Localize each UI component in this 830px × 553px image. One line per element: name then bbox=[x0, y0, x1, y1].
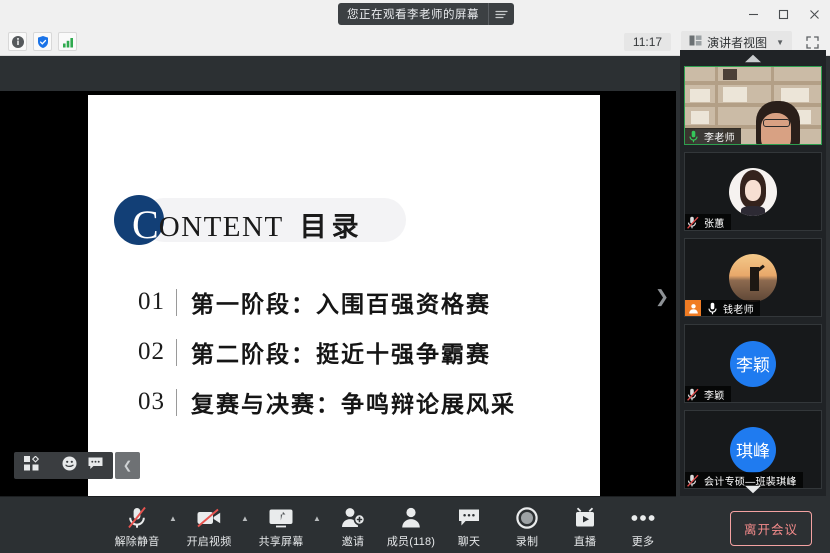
chat-bubble-icon bbox=[458, 506, 480, 530]
maximize-icon[interactable] bbox=[768, 0, 798, 28]
audio-options-caret[interactable]: ▲ bbox=[166, 514, 180, 537]
agenda-text: 复赛与决赛：争鸣辩论展风采 bbox=[191, 385, 516, 419]
speaker-view-icon bbox=[689, 35, 702, 49]
microphone-muted-icon bbox=[126, 506, 148, 530]
participant-name-badge: 李颖 bbox=[685, 386, 731, 402]
info-icon[interactable] bbox=[8, 32, 27, 51]
shield-icon[interactable] bbox=[33, 32, 52, 51]
stage-overlay-controls: ❮ bbox=[14, 452, 140, 479]
screen-share-notice[interactable]: 您正在观看李老师的屏幕 bbox=[338, 3, 514, 25]
stage-top-band bbox=[0, 57, 676, 91]
participant-tile[interactable]: 琪峰 会计专硕—班裴琪峰 bbox=[684, 410, 822, 489]
minimize-icon[interactable] bbox=[738, 0, 768, 28]
triangle-down-icon[interactable] bbox=[680, 482, 826, 496]
leave-meeting-button[interactable]: 离开会议 bbox=[730, 511, 812, 546]
next-slide-arrow[interactable]: ❯ bbox=[652, 282, 672, 312]
meeting-clock: 11:17 bbox=[624, 33, 671, 51]
view-mode-label: 演讲者视图 bbox=[707, 34, 767, 51]
record-circle-icon bbox=[516, 506, 538, 530]
avatar-initials: 李颖 bbox=[736, 351, 770, 376]
chat-bubble-icon[interactable] bbox=[88, 457, 103, 475]
list-item: 01 第一阶段：入围百强资格赛 bbox=[138, 277, 516, 327]
participant-filmstrip[interactable]: 李老师 张蕙 bbox=[680, 50, 826, 496]
signal-bars-icon[interactable] bbox=[58, 32, 77, 51]
screen-share-notice-label: 您正在观看李老师的屏幕 bbox=[347, 6, 488, 22]
live-broadcast-button[interactable]: 直播 bbox=[556, 502, 614, 549]
participant-name: 钱老师 bbox=[723, 301, 754, 316]
microphone-icon bbox=[704, 300, 720, 316]
slide-heading-first-letter: C bbox=[132, 205, 159, 245]
share-options-caret[interactable]: ▲ bbox=[310, 514, 324, 537]
control-label: 解除静音 bbox=[115, 533, 160, 549]
participant-name-badge: 钱老师 bbox=[685, 300, 760, 316]
control-label: 开启视频 bbox=[187, 533, 232, 549]
share-screen-button[interactable]: 共享屏幕 bbox=[252, 502, 310, 549]
control-buttons: 解除静音 ▲ 开启视频 ▲ 共享屏幕 ▲ 邀请 bbox=[0, 502, 672, 549]
title-bar: 您正在观看李老师的屏幕 bbox=[0, 0, 830, 28]
meeting-control-bar: 解除静音 ▲ 开启视频 ▲ 共享屏幕 ▲ 邀请 bbox=[0, 497, 830, 553]
control-label: 邀请 bbox=[342, 533, 364, 549]
participant-name: 张蕙 bbox=[704, 215, 725, 230]
participant-name: 李颖 bbox=[704, 387, 725, 402]
slide-agenda-list: 01 第一阶段：入围百强资格赛 02 第二阶段：挺近十强争霸赛 03 复赛与决赛… bbox=[138, 277, 516, 427]
more-dots-icon bbox=[631, 506, 655, 530]
participant-name-badge: 张蕙 bbox=[685, 214, 731, 230]
chevron-left-icon[interactable]: ❮ bbox=[115, 452, 140, 479]
participants-button[interactable]: 成员(118) bbox=[382, 502, 440, 549]
control-label: 共享屏幕 bbox=[259, 533, 304, 549]
agenda-divider bbox=[176, 289, 177, 316]
participant-name: 李老师 bbox=[704, 129, 735, 144]
record-button[interactable]: 录制 bbox=[498, 502, 556, 549]
list-item: 02 第二阶段：挺近十强争霸赛 bbox=[138, 327, 516, 377]
slide-heading-rest: ONTENT bbox=[159, 213, 284, 242]
host-person-icon bbox=[685, 300, 701, 316]
live-broadcast-icon bbox=[574, 506, 596, 530]
agenda-text: 第二阶段：挺近十强争霸赛 bbox=[191, 335, 491, 369]
avatar: 李颖 bbox=[730, 341, 776, 387]
microphone-muted-icon bbox=[685, 214, 701, 230]
list-item: 03 复赛与决赛：争鸣辩论展风采 bbox=[138, 377, 516, 427]
toolbar-left-icons bbox=[0, 32, 77, 51]
agenda-divider bbox=[176, 339, 177, 366]
agenda-divider bbox=[176, 389, 177, 416]
avatar bbox=[729, 168, 777, 216]
emoji-smiley-icon[interactable] bbox=[62, 456, 77, 476]
triangle-up-icon[interactable] bbox=[680, 50, 826, 66]
video-options-caret[interactable]: ▲ bbox=[238, 514, 252, 537]
participant-tile[interactable]: 李老师 bbox=[684, 66, 822, 145]
more-button[interactable]: 更多 bbox=[614, 502, 672, 549]
person-add-icon bbox=[341, 506, 365, 530]
avatar: 琪峰 bbox=[730, 427, 776, 473]
invite-button[interactable]: 邀请 bbox=[324, 502, 382, 549]
shared-slide: C ONTENT 目录 01 第一阶段：入围百强资格赛 02 第二阶段：挺近十 bbox=[88, 95, 600, 497]
share-screen-icon bbox=[268, 506, 294, 530]
agenda-number: 02 bbox=[138, 338, 176, 366]
microphone-muted-icon bbox=[685, 386, 701, 402]
agenda-number: 03 bbox=[138, 388, 176, 416]
control-label: 录制 bbox=[516, 533, 538, 549]
slide-heading-chinese: 目录 bbox=[300, 214, 364, 241]
participant-tile[interactable]: 张蕙 bbox=[684, 152, 822, 231]
meeting-window: 您正在观看李老师的屏幕 bbox=[0, 0, 830, 553]
control-label: 成员(118) bbox=[387, 533, 435, 549]
chevron-down-icon[interactable]: ▼ bbox=[776, 38, 784, 47]
start-video-button[interactable]: 开启视频 bbox=[180, 502, 238, 549]
control-label: 更多 bbox=[632, 533, 654, 549]
chat-button[interactable]: 聊天 bbox=[440, 502, 498, 549]
participants-icon bbox=[399, 506, 423, 530]
avatar bbox=[729, 254, 777, 302]
microphone-icon bbox=[685, 128, 701, 144]
hamburger-icon[interactable] bbox=[488, 3, 514, 25]
shared-screen-stage[interactable]: C ONTENT 目录 01 第一阶段：入围百强资格赛 02 第二阶段：挺近十 bbox=[0, 57, 676, 497]
close-icon[interactable] bbox=[798, 0, 830, 28]
video-camera-off-icon bbox=[196, 506, 222, 530]
apps-grid-icon[interactable] bbox=[24, 456, 39, 476]
participant-tile[interactable]: 钱老师 bbox=[684, 238, 822, 317]
control-label: 直播 bbox=[574, 533, 596, 549]
agenda-text: 第一阶段：入围百强资格赛 bbox=[191, 285, 491, 319]
unmute-button[interactable]: 解除静音 bbox=[108, 502, 166, 549]
participant-name-badge: 李老师 bbox=[685, 128, 741, 144]
participant-tile[interactable]: 李颖 李颖 bbox=[684, 324, 822, 403]
avatar-initials: 琪峰 bbox=[736, 437, 770, 462]
window-controls bbox=[738, 0, 830, 28]
control-label: 聊天 bbox=[458, 533, 480, 549]
agenda-number: 01 bbox=[138, 288, 176, 316]
